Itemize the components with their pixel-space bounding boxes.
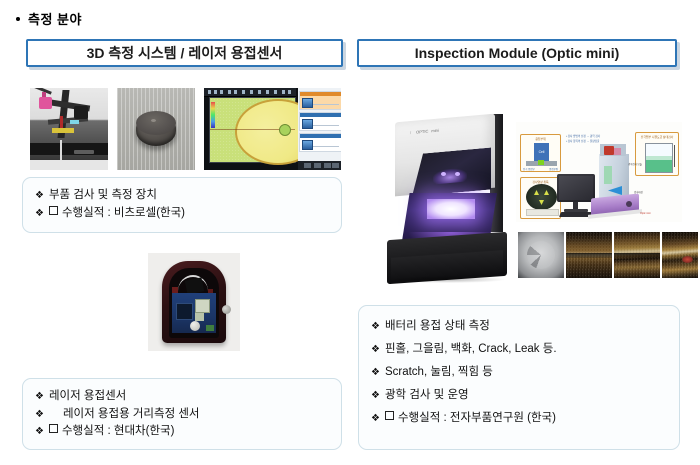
list-item-label: 배터리 용접 상태 측정 [385, 315, 490, 337]
diagram-machine-camera [614, 148, 621, 155]
diagram-marker [534, 190, 539, 195]
bullet-list: ❖ 레이저 용접센서 ❖ 레이저 용접용 거리측정 센서 ❖ 수행실적 : 현대… [35, 388, 329, 441]
3d-printer-laser-rig-photo [30, 88, 108, 170]
list-item-label: 수행실적 : 비츠로셀(한국) [62, 205, 185, 223]
printer-pink-module [39, 97, 52, 109]
diagram-weld-spot [538, 160, 544, 165]
diagram-card-weld-area: 용접부위 Cell 전극 용접부 용접부위 [520, 134, 561, 172]
diagram-label-target: 검사대상 [634, 190, 643, 194]
printer-cyan-part [70, 120, 79, 124]
diagram-cell-label: Cell [534, 143, 549, 161]
diamond-bullet-icon: ❖ [371, 362, 380, 384]
printer-yellow-part [52, 128, 74, 133]
sample-weld-surface [566, 232, 612, 278]
list-item: ❖ 광학 검사 및 운영 [371, 384, 667, 407]
diagram-card-image-acquisition-title: 검사영상 취득 [521, 180, 560, 184]
list-item: ❖ Scratch, 눌림, 찍힘 등 [371, 361, 667, 384]
diagram-gauge-band [646, 156, 672, 160]
printer-specimen-line [60, 140, 62, 160]
bullet-list: ❖ 배터리 용접 상태 측정 ❖ 핀홀, 그을림, 백화, Crack, Lea… [371, 315, 667, 430]
list-item: ❖ 핀홀, 그을림, 백화, Crack, Leak 등. [371, 338, 667, 361]
sample-weld-surface [662, 232, 698, 278]
list-item-label: 레이저 용접센서 [49, 388, 126, 406]
scan-result-row[interactable] [299, 133, 341, 152]
sample-weld-surface [614, 232, 660, 278]
optic-illuminated-stage [427, 199, 475, 219]
diamond-bullet-icon: ❖ [371, 385, 380, 407]
scan-measure-node [279, 124, 291, 136]
info-box-inspection-capabilities: ❖ 배터리 용접 상태 측정 ❖ 핀홀, 그을림, 백화, Crack, Lea… [358, 305, 680, 450]
diagram-marker [539, 200, 544, 205]
diamond-bullet-icon: ❖ [35, 187, 44, 205]
list-item-label: 핀홀, 그을림, 백화, Crack, Leak 등. [385, 338, 557, 360]
printer-head [74, 106, 88, 119]
sensor-capacitor [190, 321, 200, 331]
page-title: 측정 분야 [16, 9, 82, 28]
page-title-text: 측정 분야 [28, 12, 82, 27]
diagram-machine-knob [626, 201, 632, 207]
optic-lens-reflection-right [455, 172, 460, 176]
optic-drop-shadow [389, 276, 505, 283]
scan-plot-area [209, 97, 296, 163]
diagram-note-2: ▪ 검사 항목의 선정 → 불량검출 [566, 139, 600, 144]
printer-base [30, 160, 108, 170]
diamond-bullet-icon: ❖ [35, 388, 44, 406]
list-item: ❖ 수행실적 : 전자부품연구원 (한국) [371, 407, 667, 430]
diagram-monitor [557, 174, 595, 202]
diagram-monitor-screen [559, 176, 593, 200]
laser-weld-sensor-module-photo [148, 253, 240, 351]
diamond-bullet-icon: ❖ [371, 408, 380, 430]
list-item-label: 수행실적 : 전자부품연구원 (한국) [398, 407, 556, 429]
sensor-main-chip [176, 303, 193, 320]
list-item-label: 레이저 용접용 거리측정 센서 [63, 406, 200, 424]
sensor-terminal-block [206, 325, 214, 331]
section-header-right-label: Inspection Module (Optic mini) [415, 45, 620, 61]
diamond-bullet-icon: ❖ [371, 339, 380, 361]
checkbox-square-icon [49, 206, 58, 215]
sample-weld-seam-1 [566, 232, 612, 278]
diagram-card-plating-inspection: 전극탭부 니켈도금 상태검사 [635, 132, 679, 176]
sensor-component [195, 313, 204, 321]
diagram-note-right: 용접부위 [549, 167, 558, 171]
diagram-acquired-image [526, 184, 557, 210]
optic-mini-machine-photo: /OPTICmini [371, 96, 515, 290]
diagram-marker [544, 190, 549, 195]
diagram-notes: ▪ 검사 방법의 선정 → 광학 검사 ▪ 검사 항목의 선정 → 불량검출 [566, 134, 600, 144]
sample-disc-image [518, 232, 564, 278]
checkbox-square-icon [49, 424, 58, 433]
diamond-bullet-icon: ❖ [371, 316, 380, 338]
list-item: ❖ 레이저 용접용 거리측정 센서 [35, 406, 329, 424]
optic-lens-reflection-left [441, 172, 446, 176]
list-item: ❖ 수행실적 : 비츠로셀(한국) [35, 205, 329, 223]
diagram-gauge-axis [674, 145, 675, 167]
section-header-right: Inspection Module (Optic mini) [357, 39, 677, 67]
diamond-bullet-icon: ❖ [35, 406, 44, 424]
list-item-label: 수행실적 : 현대차(한국) [62, 423, 174, 441]
checkbox-square-icon [385, 411, 394, 420]
diagram-gauge-fill [646, 160, 672, 172]
diagram-machine-optics [604, 146, 614, 155]
optic-logo-sub: mini [431, 128, 438, 134]
scan-statusbar [298, 161, 341, 170]
diagram-label-product: Optic mini [640, 212, 651, 215]
diagram-level-gauge [645, 143, 673, 173]
optic-window-reflection [433, 168, 467, 185]
disc-top-face [136, 111, 176, 135]
diagram-image-caption-strip [526, 209, 559, 216]
scan-result-row[interactable] [299, 91, 341, 110]
scan-colorbar [211, 102, 215, 128]
list-item: ❖ 수행실적 : 현대차(한국) [35, 423, 329, 441]
diagram-cell-block: Cell [534, 143, 549, 161]
title-bullet-icon [16, 17, 20, 21]
diamond-bullet-icon: ❖ [35, 423, 44, 441]
optic-logo-mark: OPTIC [416, 129, 428, 135]
diamond-bullet-icon: ❖ [35, 205, 44, 223]
scan-results-panel [298, 88, 341, 170]
list-item-label: Scratch, 눌림, 찍힘 등 [385, 361, 493, 383]
section-header-left: 3D 측정 시스템 / 레이저 용접센서 [26, 39, 343, 67]
diagram-card-plating-inspection-title: 전극탭부 니켈도금 상태검사 [636, 135, 678, 139]
list-item-label: 부품 검사 및 측정 장치 [49, 187, 157, 205]
sample-weld-seam-3 [662, 232, 698, 278]
inspection-system-concept-diagram: 용접부위 Cell 전극 용접부 용접부위 검사영상 취득 ▪ 검사 방법의 선… [516, 122, 682, 222]
bullet-list: ❖ 부품 검사 및 측정 장치 ❖ 수행실적 : 비츠로셀(한국) [35, 187, 329, 222]
diagram-card-weld-area-title: 용접부위 [521, 137, 560, 141]
diagram-note-left: 전극 용접부 [523, 167, 535, 171]
list-item: ❖ 레이저 용접센서 [35, 388, 329, 406]
metal-disc-specimen-photo [117, 88, 195, 170]
scan-result-row[interactable] [299, 112, 341, 131]
scan-app-toolbar [204, 88, 296, 97]
list-item: ❖ 부품 검사 및 측정 장치 [35, 187, 329, 205]
printer-bed [30, 143, 108, 155]
sample-weld-seam-2 [614, 232, 660, 278]
scan-software-screenshot [204, 88, 341, 170]
list-item: ❖ 배터리 용접 상태 측정 [371, 315, 667, 338]
diagram-machine-sample [604, 166, 612, 184]
list-item-label: 광학 검사 및 운영 [385, 384, 469, 406]
diagram-card-image-acquisition: 검사영상 취득 [520, 177, 561, 219]
sensor-connector [222, 305, 231, 314]
sensor-relay [195, 299, 210, 313]
printer-logo-strip [74, 150, 94, 154]
section-header-left-label: 3D 측정 시스템 / 레이저 용접센서 [87, 43, 283, 63]
diagram-label-optical-module: 광학검사 모듈 [628, 162, 642, 166]
info-box-laser-weld-sensor: ❖ 레이저 용접센서 ❖ 레이저 용접용 거리측정 센서 ❖ 수행실적 : 현대… [22, 378, 342, 450]
sample-disc-surface [518, 232, 564, 278]
info-box-measurement-device: ❖ 부품 검사 및 측정 장치 ❖ 수행실적 : 비츠로셀(한국) [22, 177, 342, 233]
disc-highlight [151, 119, 156, 122]
